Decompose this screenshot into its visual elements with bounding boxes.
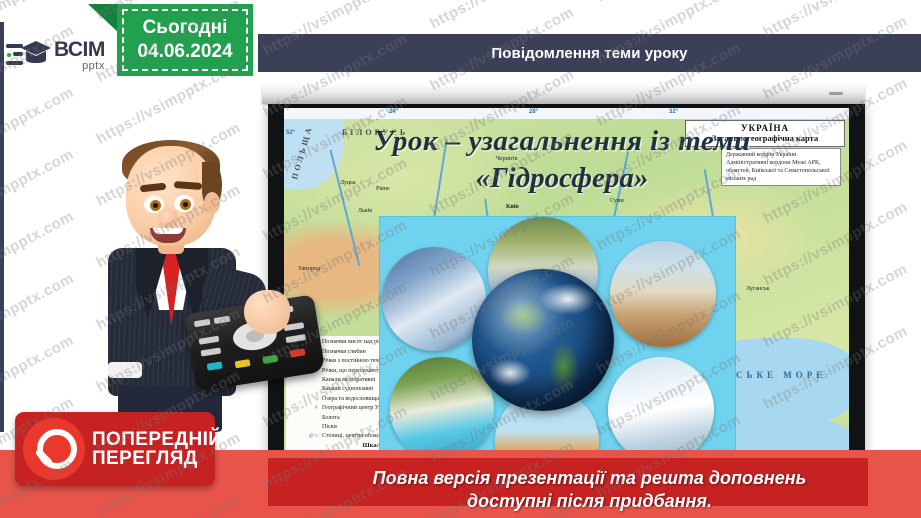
legend-label: Канали судноплавні [322, 386, 373, 392]
pupil-right [183, 202, 188, 207]
preview-badge[interactable]: ПОПЕРЕДНІЙ ПЕРЕГЛЯД [15, 412, 215, 486]
whiteboard-frame: 24° 28° 32° 52° 48° БІЛОРУСЬ ПОЛЬЩА РУМУ… [268, 100, 865, 472]
date-badge-label: Сьогодні [143, 16, 228, 40]
brand-name: ВСІМ [54, 39, 105, 60]
whiteboard-screen: 24° 28° 32° 52° 48° БІЛОРУСЬ ПОЛЬЩА РУМУ… [284, 108, 849, 464]
map-city-kyiv: Київ [506, 204, 519, 210]
legend-label: Піски [322, 424, 337, 430]
hand [244, 290, 290, 334]
map-coord-28: 28° [529, 109, 538, 115]
map-coord-32: 32° [669, 109, 678, 115]
hydrosphere-collage [379, 216, 736, 458]
brand-suffix: pptx [54, 61, 105, 72]
pupil-left [153, 203, 158, 208]
cap-shape-icon [20, 38, 52, 70]
shirt-cuff [108, 362, 142, 378]
frame-notch [829, 92, 843, 95]
cartoon-businessman [62, 140, 272, 430]
slide-title-line2: «Гідросфера» [292, 162, 832, 195]
header-bar: Повідомлення теми уроку [258, 34, 921, 72]
teeth [153, 228, 183, 234]
preview-label-line2: ПЕРЕГЛЯД [92, 449, 222, 468]
map-city-sumy: Суми [610, 198, 624, 204]
map-city-luhansk: Луганськ [746, 286, 770, 292]
banner-line1: Повна версія презентації та решта доповн… [258, 467, 921, 490]
date-badge: Сьогодні 04.06.2024 [117, 4, 253, 76]
magnifier-icon [23, 418, 85, 480]
earth-globe [472, 269, 614, 411]
screenshot-root: ВСІМ pptx Сьогодні 04.06.2024 Повідомлен… [0, 0, 921, 518]
left-accent-bar [0, 22, 4, 432]
header-title: Повідомлення теми уроку [491, 45, 687, 62]
map-city-lviv: Львів [358, 208, 372, 214]
map-coord-24: 24° [389, 109, 398, 115]
preview-label-line1: ПОПЕРЕДНІЙ [92, 430, 222, 449]
banner-line2: доступні після придбання. [258, 490, 921, 513]
legend-label: Озера та водосховища [322, 396, 379, 402]
brand-logo[interactable]: ВСІМ pptx [6, 30, 114, 80]
bottom-banner-text: Повна версія презентації та решта доповн… [258, 467, 921, 512]
legend-label: Річки, що пересихають [322, 368, 381, 374]
legend-symbol: ✳ [288, 405, 318, 411]
clouds-photo [382, 247, 486, 351]
sea-waves-photo [610, 241, 716, 347]
legend-label: Болота [322, 415, 340, 421]
legend-label: Позначки глибин [322, 349, 366, 355]
snow-mountains-photo [608, 357, 714, 463]
ear [204, 192, 220, 214]
map-city-uzhhorod: Ужгород [298, 266, 320, 272]
lake-beach-photo [390, 357, 494, 461]
graduation-cap-icon [6, 36, 52, 74]
legend-label: Канали меліоративні [322, 377, 375, 383]
nose [158, 208, 178, 228]
legend-label: Столиці, центри областей [322, 433, 388, 439]
whiteboard-top-frame [262, 84, 865, 104]
legend-symbol: ◎ ○ [288, 433, 318, 439]
slide-title: Урок – узагальнення із теми «Гідросфера» [292, 126, 832, 196]
legend-label: Річки з постійною течією [322, 358, 387, 364]
date-badge-value: 04.06.2024 [137, 40, 232, 64]
slide-title-line1: Урок – узагальнення із теми [292, 126, 832, 156]
